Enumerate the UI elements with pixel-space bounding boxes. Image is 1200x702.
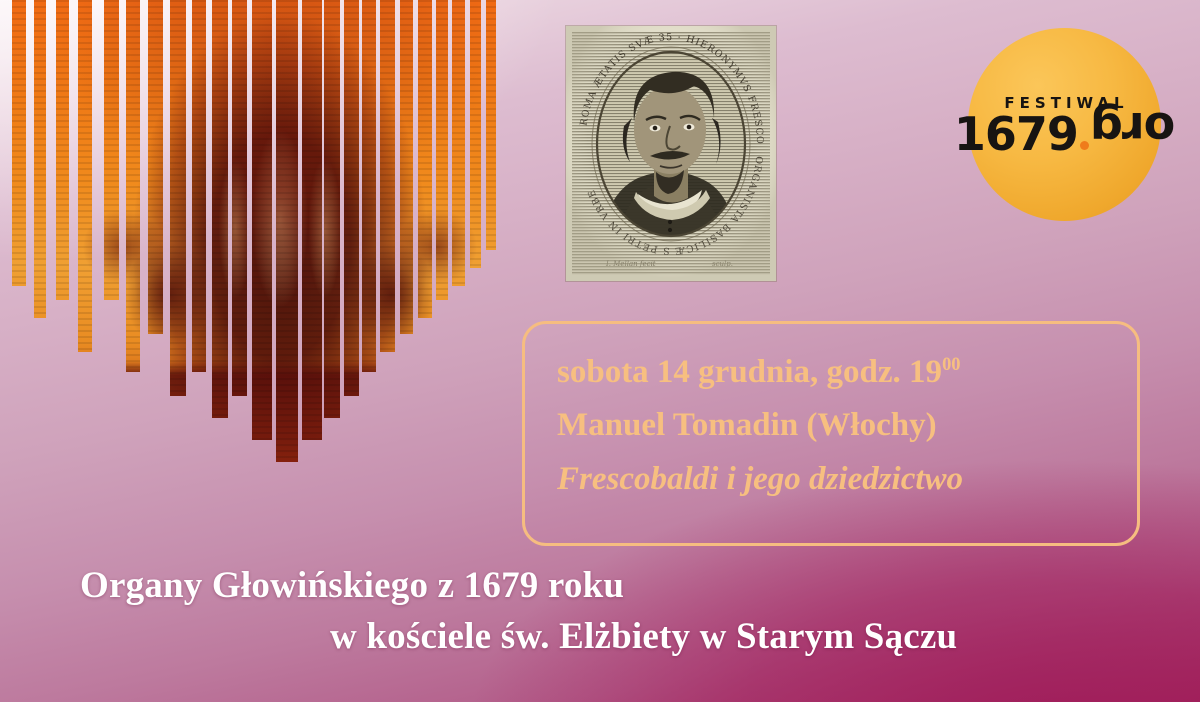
organ-strip-image xyxy=(436,0,448,300)
organ-strip-image xyxy=(232,0,247,396)
organ-strip xyxy=(302,0,322,440)
organ-strip xyxy=(148,0,163,334)
organ-strip xyxy=(170,0,186,396)
organ-strip xyxy=(126,0,140,372)
organ-strip xyxy=(252,0,272,440)
organ-strip-image xyxy=(400,0,413,334)
organ-strip xyxy=(12,0,26,286)
logo-domain: org xyxy=(1091,108,1175,150)
organ-strip-image xyxy=(148,0,163,334)
concert-date: sobota 14 grudnia, godz. 19 xyxy=(557,354,942,390)
organ-strip xyxy=(344,0,359,396)
poster-headline: Organy Głowińskiego z 1679 roku w koście… xyxy=(0,560,1200,662)
organ-strip-image xyxy=(344,0,359,396)
organ-strip xyxy=(486,0,496,250)
time-minutes: 00 xyxy=(942,354,960,374)
organ-strip xyxy=(192,0,206,372)
organ-strip xyxy=(104,0,119,300)
organ-strip-image xyxy=(486,0,496,250)
organ-strip xyxy=(212,0,228,418)
headline-line-1: Organy Głowińskiego z 1679 roku xyxy=(0,560,1200,611)
concert-date-time: sobota 14 grudnia, godz. 1900 xyxy=(557,346,1137,399)
concert-poster: ROMA ÆTATIS SVÆ 35 · HIERONYMVS FRESCOBA… xyxy=(0,0,1200,702)
organ-strip-image xyxy=(362,0,376,372)
organ-strip xyxy=(324,0,340,418)
organ-strip-image xyxy=(170,0,186,396)
organ-strip-image xyxy=(452,0,465,286)
organ-strip-image xyxy=(380,0,395,352)
organ-strip xyxy=(78,0,92,352)
organ-strip xyxy=(436,0,448,300)
logo-number: 1679 xyxy=(954,113,1078,155)
organ-strip-image xyxy=(56,0,69,300)
organ-strip-image xyxy=(126,0,140,372)
organ-strip xyxy=(452,0,465,286)
organ-strip-image xyxy=(252,0,272,440)
organ-strip-image xyxy=(418,0,432,318)
organ-strip-image xyxy=(276,0,298,462)
logo-dot-icon xyxy=(1080,141,1089,150)
logo-wordmark: 1679 org xyxy=(954,113,1175,155)
frescobaldi-engraving: ROMA ÆTATIS SVÆ 35 · HIERONYMVS FRESCOBA… xyxy=(566,26,776,281)
organ-strip xyxy=(418,0,432,318)
organ-strip-image xyxy=(324,0,340,418)
headline-line-2: w kościele św. Elżbiety w Starym Sączu xyxy=(0,611,1200,662)
concert-programme: Frescobaldi i jego dziedzictwo xyxy=(557,453,1137,506)
organ-strip-image xyxy=(34,0,46,318)
organ-strip-image xyxy=(104,0,119,300)
festival-logo[interactable]: FESTIWAL 1679 org xyxy=(968,28,1161,221)
organ-strip xyxy=(276,0,298,462)
organ-strip xyxy=(232,0,247,396)
organ-strip xyxy=(400,0,413,334)
organ-strip xyxy=(380,0,395,352)
organ-strip-image xyxy=(302,0,322,440)
organ-strip xyxy=(56,0,69,300)
organ-strip xyxy=(34,0,46,318)
concert-details-card: sobota 14 grudnia, godz. 1900 Manuel Tom… xyxy=(522,321,1140,546)
organ-strip xyxy=(470,0,481,268)
organ-strip xyxy=(362,0,376,372)
organ-strip-image xyxy=(212,0,228,418)
organ-strip-image xyxy=(12,0,26,286)
concert-performer: Manuel Tomadin (Włochy) xyxy=(557,399,1137,452)
organ-strip-image xyxy=(192,0,206,372)
organ-photo-strips xyxy=(0,0,560,475)
organ-strip-image xyxy=(470,0,481,268)
organ-strip-image xyxy=(78,0,92,352)
